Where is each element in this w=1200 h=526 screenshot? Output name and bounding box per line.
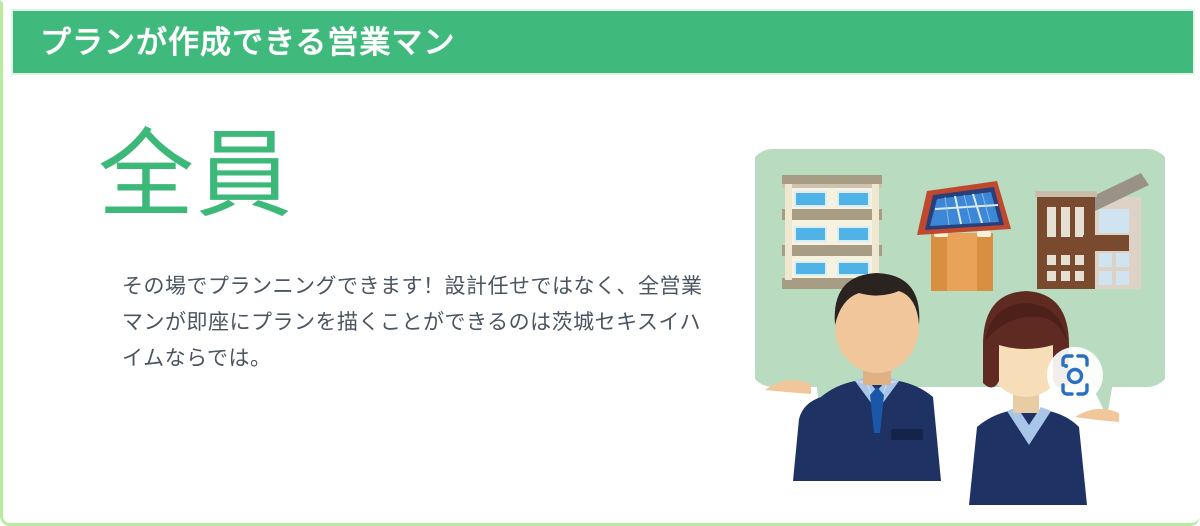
apartment-building-icon bbox=[782, 175, 882, 289]
text-column: 全員 その場でプランニングできます！設計任せではなく、全営業マンが即座にプランを… bbox=[98, 125, 738, 376]
card-header: プランが作成できる営業マン bbox=[11, 9, 1195, 75]
card-header-title: プランが作成できる営業マン bbox=[40, 27, 455, 58]
headline: 全員 bbox=[98, 125, 738, 226]
info-card: プランが作成できる営業マン 全員 その場でプランニングできます！設計任せではなく… bbox=[0, 0, 1200, 526]
illustration bbox=[755, 135, 1165, 505]
card-body: 全員 その場でプランニングできます！設計任せではなく、全営業マンが即座にプランを… bbox=[3, 75, 1200, 526]
description-paragraph: その場でプランニングできます！設計任せではなく、全営業マンが即座にプランを描くこ… bbox=[122, 268, 722, 376]
scan-focus-icon[interactable] bbox=[1047, 347, 1103, 403]
